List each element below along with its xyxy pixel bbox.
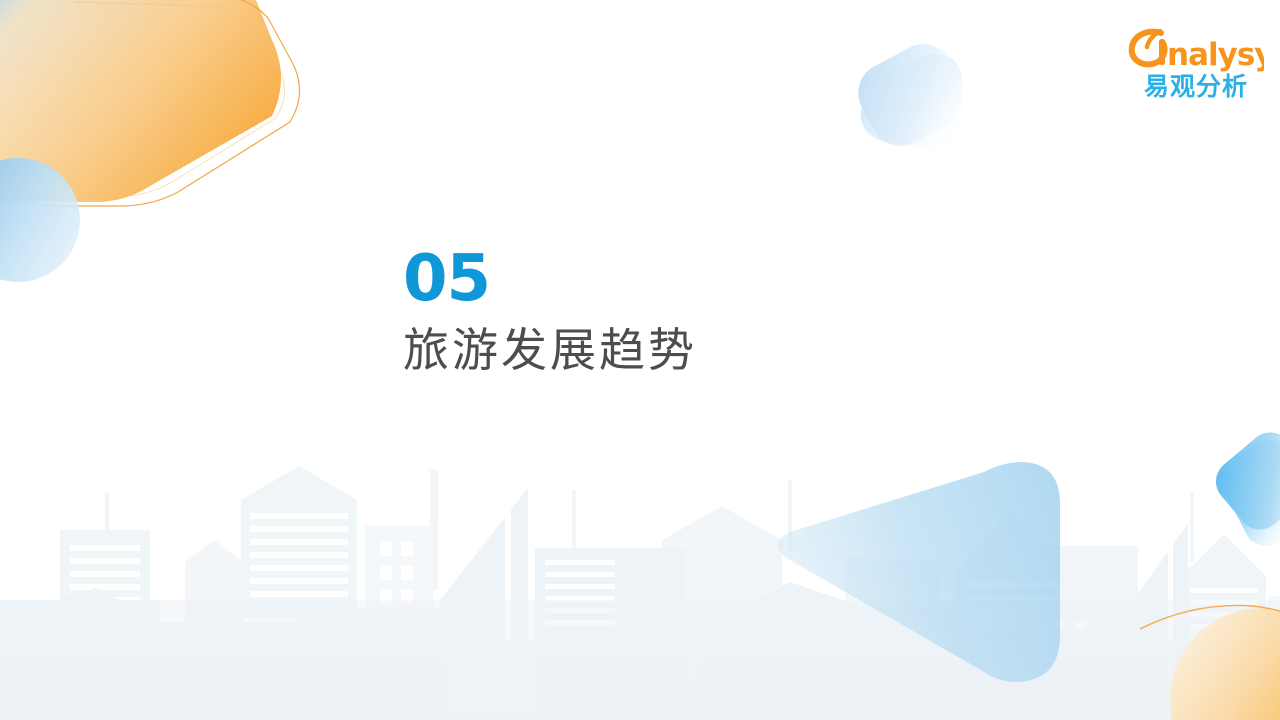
- analysys-logo: nalysys 易观分析: [1128, 28, 1264, 100]
- blue-chevron-bottom-right: [1207, 423, 1280, 546]
- orange-outline-echo-top-left: [40, 0, 300, 206]
- blue-triangle-bottom-right: [778, 462, 1060, 682]
- orange-circle-bottom-right: [1170, 608, 1280, 720]
- building-spire-c: [1182, 534, 1266, 720]
- blue-rounded-rect-top-left: [0, 0, 199, 178]
- building-grid-d: [1040, 608, 1110, 720]
- building-lean-a: [440, 488, 528, 650]
- slide-root: nalysys 易观分析 05 旅游发展趋势: [0, 0, 1280, 720]
- building-grid-a: [365, 526, 433, 720]
- blue-circle-left: [0, 158, 80, 282]
- orange-arc-bottom-right: [1140, 605, 1280, 662]
- building-striped-a: [535, 548, 685, 720]
- city-skyline: [0, 466, 1280, 720]
- blue-pale-rounded-top-right: [848, 34, 977, 157]
- building-grid-b: [800, 558, 941, 720]
- section-title: 旅游发展趋势: [403, 322, 963, 378]
- section-title-block: 05 旅游发展趋势: [403, 246, 963, 378]
- building-slim-a: [60, 530, 150, 720]
- building-grid-c: [1268, 596, 1280, 720]
- building-spire-a: [241, 466, 357, 618]
- building-spire-b: [955, 512, 1067, 720]
- section-number: 05: [403, 246, 963, 312]
- orange-chevron-top-left: [0, 0, 281, 202]
- building-lean-b: [1120, 524, 1188, 720]
- svg-text:nalysys: nalysys: [1167, 37, 1264, 72]
- analysys-logo-cn-text: 易观分析: [1128, 73, 1264, 101]
- analysys-wordmark-icon: nalysys: [1128, 28, 1264, 72]
